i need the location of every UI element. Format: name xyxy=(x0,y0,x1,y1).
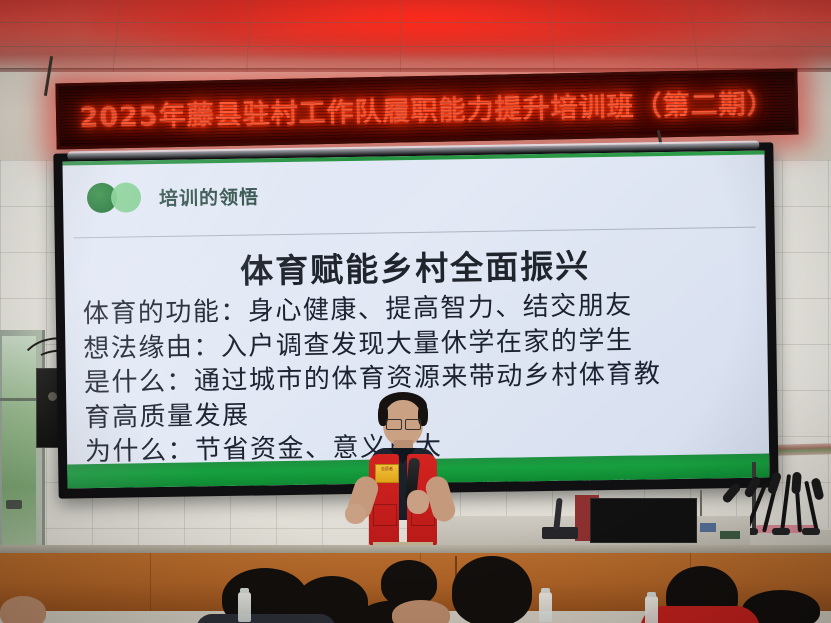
microphone-base xyxy=(772,528,790,535)
light-green-circle-icon xyxy=(111,182,141,212)
audience-shoulder-red xyxy=(640,606,760,623)
bottle-cap xyxy=(541,588,550,593)
slide-header-label: 培训的领悟 xyxy=(159,182,259,211)
slide-header-divider xyxy=(74,227,756,239)
water-bottle[interactable] xyxy=(539,592,552,622)
speaker-left-hand xyxy=(345,504,366,524)
panel-knob-1 xyxy=(48,392,57,401)
desk-item-blue xyxy=(700,523,716,532)
speaker-vest-badge: 志愿者 xyxy=(375,464,399,483)
microphone-head[interactable] xyxy=(791,472,802,495)
slide-title: 体育赋能乡村全面振兴 xyxy=(64,236,767,295)
eyeglasses-icon xyxy=(405,419,421,430)
water-bottle[interactable] xyxy=(238,592,251,622)
mic-support-post xyxy=(752,462,756,532)
window-mullion-h xyxy=(0,398,40,401)
desk-microphone-base[interactable] xyxy=(542,527,578,539)
audience-shoulder xyxy=(196,614,336,623)
desk-item-green xyxy=(720,531,740,539)
eyeglasses-icon xyxy=(386,419,402,430)
microphone-base xyxy=(802,528,820,535)
speaker-person: 志愿者 xyxy=(345,392,460,567)
desk-seam xyxy=(150,553,151,611)
bottle-cap xyxy=(647,592,656,597)
laptop-screen[interactable] xyxy=(590,498,697,543)
speaker-vest-pocket xyxy=(373,504,397,526)
bottle-cap xyxy=(240,588,249,593)
audience-head xyxy=(452,556,532,623)
speaker-right-hand xyxy=(407,490,429,514)
audience-head xyxy=(381,560,437,606)
water-bottle[interactable] xyxy=(645,596,658,623)
audience-head-partial xyxy=(0,596,46,623)
conference-photo: 2025年藤县驻村工作队履职能力提升培训班（第二期） 培训的领悟 体育赋能乡村全… xyxy=(0,0,831,623)
window-handle[interactable] xyxy=(6,500,22,509)
audience-head-bald xyxy=(392,600,450,623)
ceiling xyxy=(0,0,831,78)
slide-header: 培训的领悟 xyxy=(87,180,259,213)
slide-marker-dots xyxy=(87,182,145,213)
